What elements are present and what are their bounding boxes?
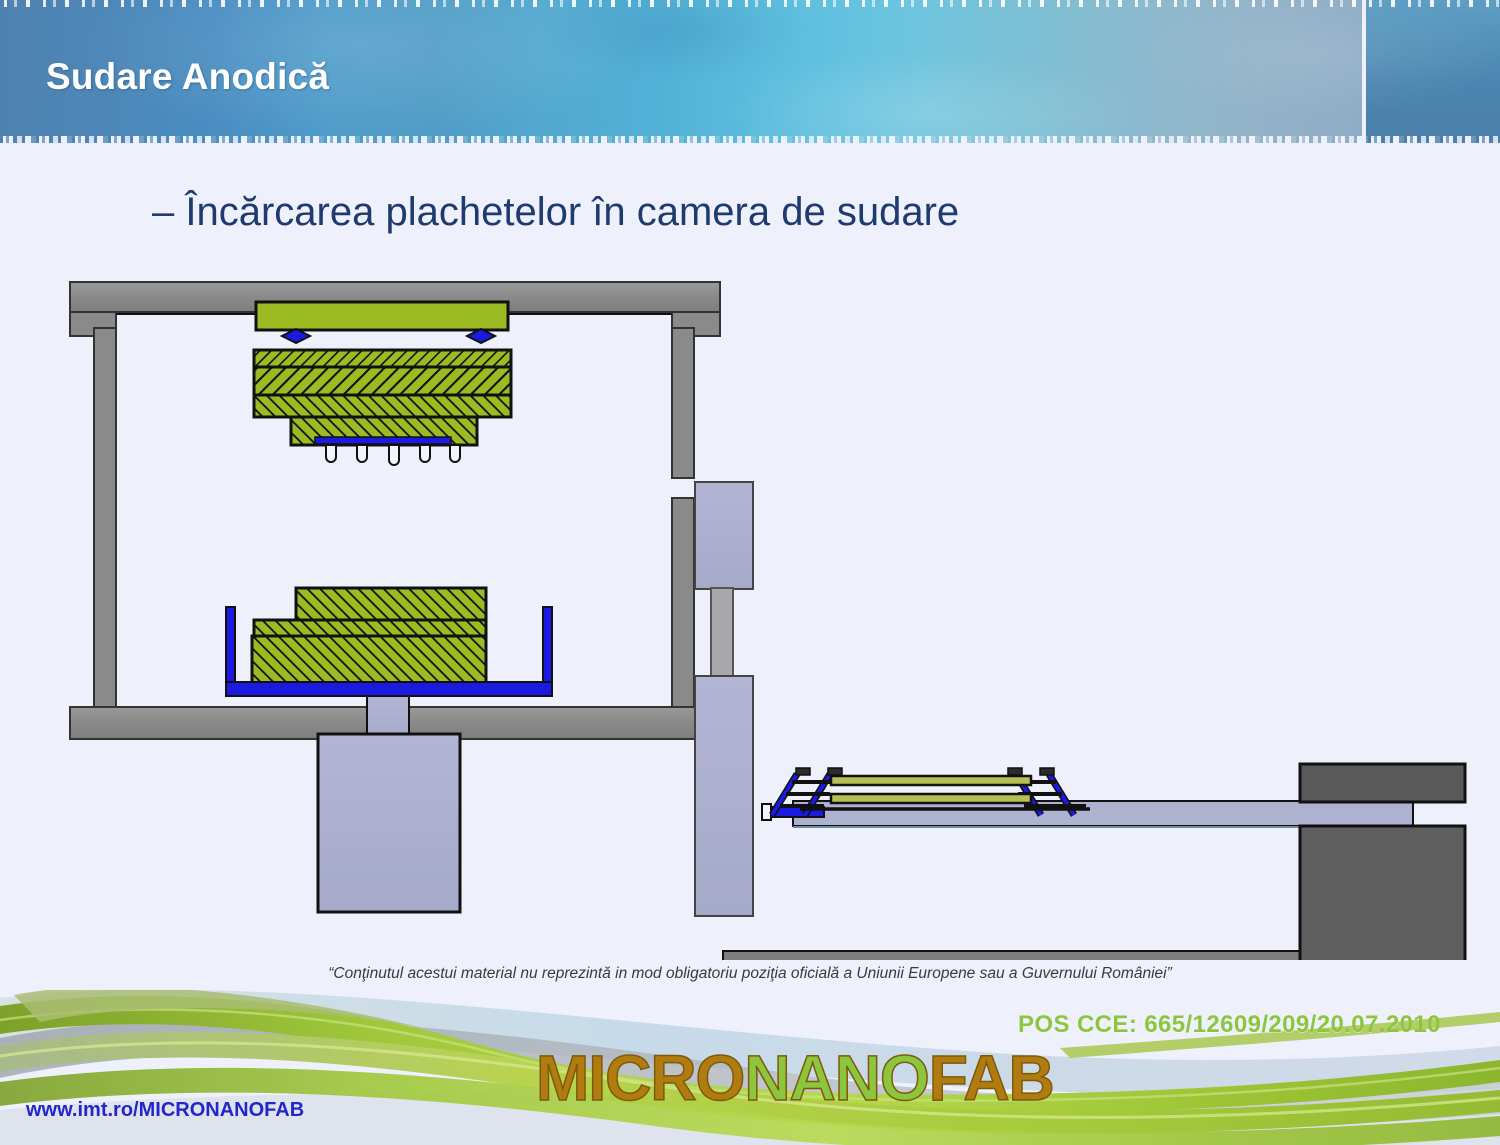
upper-stack-layer-1 — [254, 350, 511, 367]
transfer-arm-bottom — [723, 951, 1336, 960]
lower-stack-middle — [254, 620, 486, 636]
logo-part-micro: MICRO — [536, 1042, 744, 1114]
pos-cce-label: POS CCE: 665/12609/209/20.07.2010 — [1018, 1011, 1441, 1039]
cassette-wafer-upper — [831, 776, 1031, 785]
upper-electrode-bar — [315, 437, 451, 444]
upper-heater-plate — [256, 302, 508, 330]
micronanofab-logo: MICRONANOFAB — [536, 1046, 1054, 1110]
pedestal-base — [318, 734, 460, 912]
lower-tray-right-post — [543, 607, 552, 691]
end-module-top-cap — [1300, 764, 1465, 802]
lower-stack-main — [252, 636, 486, 686]
end-module-group — [1300, 764, 1465, 960]
transfer-mechanism — [695, 482, 753, 916]
upper-press-assembly — [254, 302, 511, 465]
anodic-bonding-diagram — [0, 270, 1500, 960]
lower-tray-left-post — [226, 607, 235, 691]
chamber-left-wall — [94, 328, 116, 718]
end-module — [1300, 826, 1465, 960]
chamber-right-wall-lower — [672, 498, 694, 718]
transfer-arm-top — [793, 801, 1413, 826]
cassette-wafer-lower — [831, 794, 1031, 803]
lower-tray-bottom — [226, 682, 552, 696]
banner-vertical-divider — [1362, 0, 1366, 152]
electrode-pins — [326, 445, 460, 465]
lower-substrate-assembly — [226, 588, 552, 912]
disclaimer-text: “Conţinutul acestui material nu reprezin… — [0, 965, 1500, 983]
chamber-right-wall — [672, 328, 694, 478]
transfer-column-upper — [695, 482, 753, 589]
bullet-text: – Încărcarea plachetelor în camera de su… — [152, 190, 959, 235]
lower-stack-top — [296, 588, 486, 620]
upper-stack-layer-2 — [254, 367, 511, 395]
transfer-column-lower — [695, 676, 753, 916]
diagram-svg — [0, 270, 1500, 960]
logo-part-fab: FAB — [929, 1042, 1054, 1114]
transfer-rod — [711, 588, 733, 678]
upper-stack-layer-3 — [254, 395, 511, 417]
logo-part-nano: NANO — [744, 1042, 928, 1114]
cassette-end-cap — [762, 804, 771, 820]
banner-gradient-right — [1366, 0, 1500, 152]
page-title: Sudare Anodică — [46, 56, 329, 98]
website-url[interactable]: www.imt.ro/MICRONANOFAB — [26, 1099, 304, 1122]
